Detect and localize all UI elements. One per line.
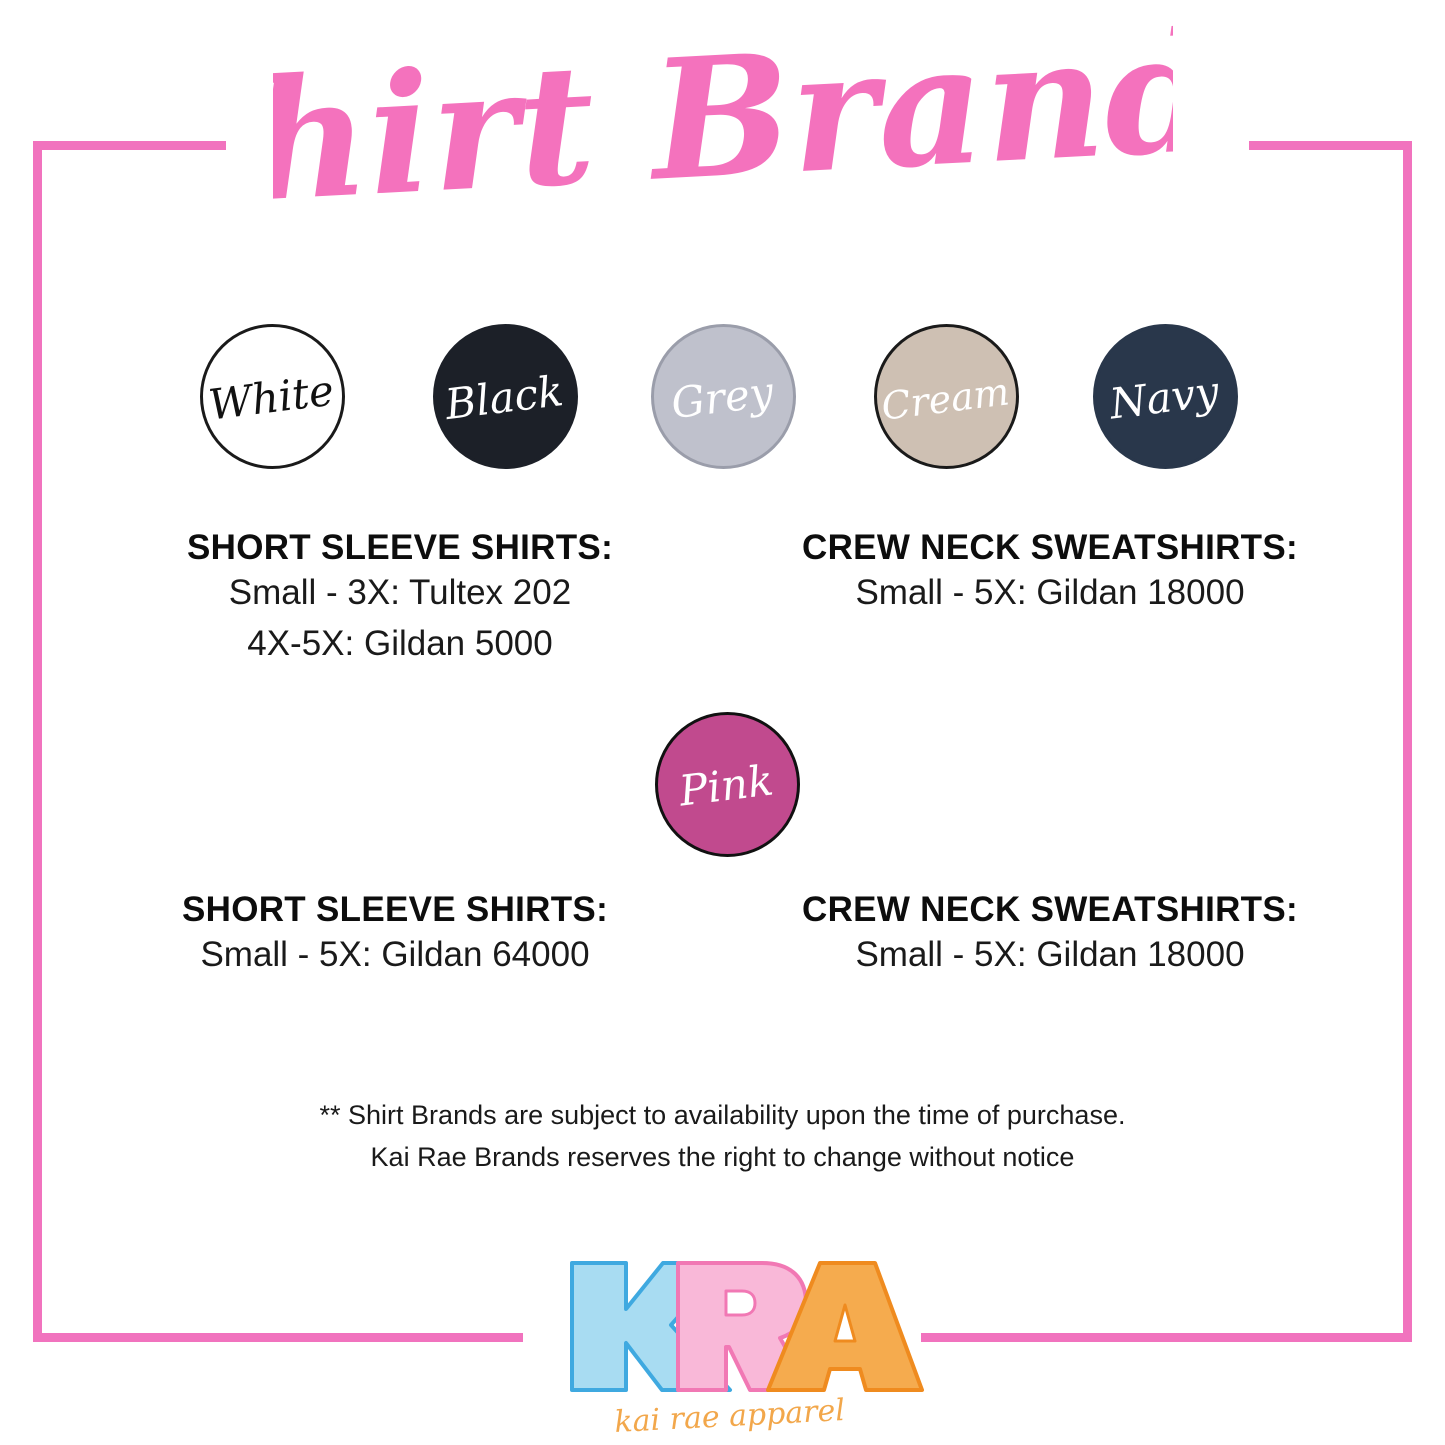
logo-tagline: kai rae apparel <box>614 1393 846 1438</box>
section-bottom-left-line-1: Small - 5X: Gildan 64000 <box>115 930 675 981</box>
swatch-white-label: White <box>206 365 336 429</box>
swatch-pink: Pink <box>655 712 800 857</box>
section-top-left-heading: SHORT SLEEVE SHIRTS: <box>120 528 680 568</box>
section-bottom-right-heading: CREW NECK SWEATSHIRTS: <box>770 890 1330 930</box>
disclaimer-line-2: Kai Rae Brands reserves the right to cha… <box>0 1137 1445 1179</box>
swatch-navy: Navy <box>1093 324 1238 469</box>
swatch-black: Black <box>433 324 578 469</box>
frame-bottom-right-segment <box>921 1333 1412 1342</box>
section-bottom-left: SHORT SLEEVE SHIRTS: Small - 5X: Gildan … <box>115 890 675 981</box>
swatch-cream-label: Cream <box>879 369 1012 428</box>
disclaimer: ** Shirt Brands are subject to availabil… <box>0 1095 1445 1179</box>
swatch-pink-label: Pink <box>675 755 775 815</box>
flyer-canvas: Shirt Brands White Black Grey Cream Navy… <box>0 0 1445 1445</box>
section-top-right: CREW NECK SWEATSHIRTS: Small - 5X: Gilda… <box>770 528 1330 619</box>
swatch-cream: Cream <box>874 324 1019 469</box>
brand-logo: kai rae apparel <box>530 1243 930 1438</box>
section-bottom-left-heading: SHORT SLEEVE SHIRTS: <box>115 890 675 930</box>
frame-bottom-left-segment <box>33 1333 523 1342</box>
swatch-grey-label: Grey <box>668 366 777 427</box>
swatch-navy-label: Navy <box>1106 366 1223 428</box>
swatch-white: White <box>200 324 345 469</box>
section-top-left: SHORT SLEEVE SHIRTS: Small - 3X: Tultex … <box>120 528 680 670</box>
page-title: Shirt Brands <box>0 10 1445 250</box>
section-bottom-right-line-1: Small - 5X: Gildan 18000 <box>770 930 1330 981</box>
swatch-grey: Grey <box>651 324 796 469</box>
section-top-right-line-1: Small - 5X: Gildan 18000 <box>770 568 1330 619</box>
frame-top-right-segment <box>1249 141 1412 150</box>
swatch-black-label: Black <box>442 366 566 429</box>
page-title-text: Shirt Brands <box>273 15 1173 245</box>
section-top-right-heading: CREW NECK SWEATSHIRTS: <box>770 528 1330 568</box>
frame-top-left-segment <box>33 141 226 150</box>
section-top-left-line-1: Small - 3X: Tultex 202 <box>120 568 680 619</box>
disclaimer-line-1: ** Shirt Brands are subject to availabil… <box>0 1095 1445 1137</box>
section-bottom-right: CREW NECK SWEATSHIRTS: Small - 5X: Gilda… <box>770 890 1330 981</box>
section-top-left-line-2: 4X-5X: Gildan 5000 <box>120 619 680 670</box>
